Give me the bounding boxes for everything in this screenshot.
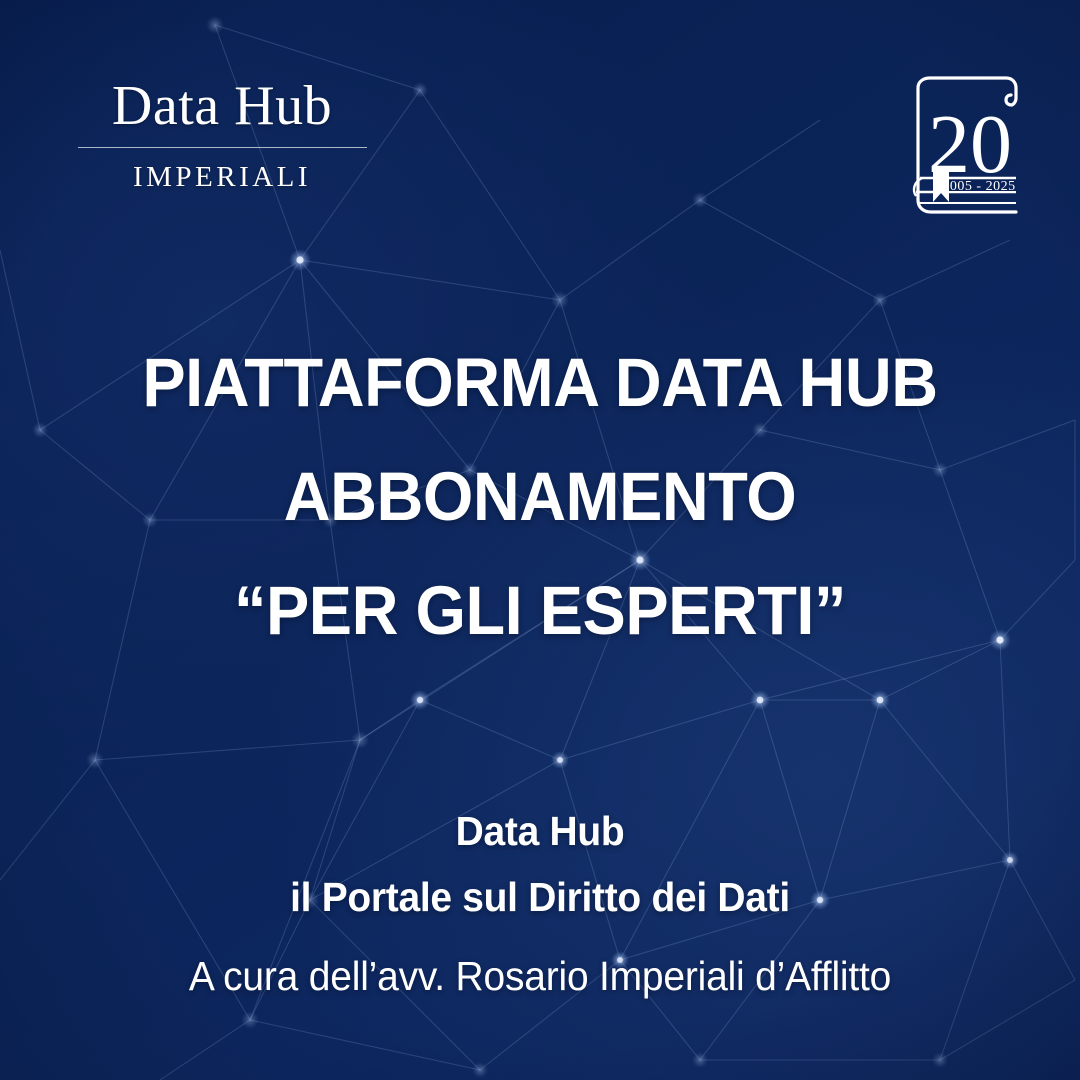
badge-years-text: 2005 - 2025 bbox=[942, 179, 1015, 194]
footer-byline: A cura dell’avv. Rosario Imperiali d’Aff… bbox=[27, 951, 1053, 1001]
headline-line-2: ABBONAMENTO bbox=[32, 440, 1047, 554]
headline: PIATTAFORMA DATA HUB ABBONAMENTO “PER GL… bbox=[32, 326, 1047, 668]
headline-line-1: PIATTAFORMA DATA HUB bbox=[32, 326, 1047, 440]
headline-line-3: “PER GLI ESPERTI” bbox=[32, 554, 1047, 668]
badge-number-text: 20 bbox=[928, 98, 1012, 191]
anniversary-badge: 20 2005 - 2025 bbox=[900, 74, 1032, 226]
promo-poster: Data Hub IMPERIALI 20 2005 - 2025 bbox=[0, 0, 1080, 1080]
footer-block: Data Hub il Portale sul Diritto dei Dati… bbox=[27, 798, 1053, 1001]
footer-brand: Data Hub bbox=[27, 798, 1053, 864]
footer-tagline: il Portale sul Diritto dei Dati bbox=[27, 864, 1053, 930]
logo-wordmark: Data Hub bbox=[76, 78, 368, 134]
logo-subtitle: IMPERIALI bbox=[76, 161, 368, 194]
logo-divider-icon bbox=[78, 147, 367, 148]
brand-logo: Data Hub IMPERIALI bbox=[76, 78, 368, 194]
